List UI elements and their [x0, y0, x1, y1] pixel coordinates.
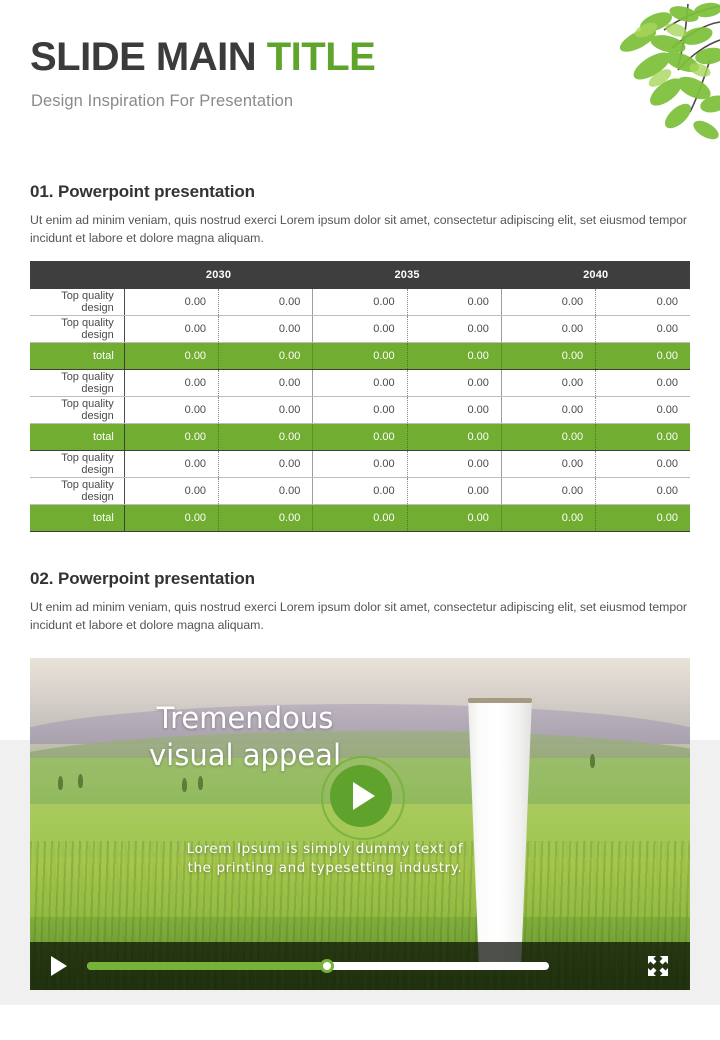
section-01-heading: 01. Powerpoint presentation	[30, 182, 690, 202]
row-label: total	[30, 424, 124, 451]
row-value: 0.00	[124, 505, 218, 532]
row-value: 0.00	[219, 451, 313, 478]
row-value: 0.00	[219, 316, 313, 343]
scene-tree	[198, 776, 203, 790]
row-value: 0.00	[219, 424, 313, 451]
row-value: 0.00	[124, 289, 218, 316]
video-headline-line1: Tremendous	[157, 701, 334, 735]
play-icon[interactable]	[51, 956, 67, 976]
row-value: 0.00	[124, 370, 218, 397]
row-value: 0.00	[124, 316, 218, 343]
video-control-bar[interactable]	[30, 942, 690, 990]
row-value: 0.00	[407, 397, 501, 424]
row-value: 0.00	[596, 343, 690, 370]
table-header-row: 2030 2035 2040	[30, 261, 690, 289]
table-row: Top quality design0.000.000.000.000.000.…	[30, 451, 690, 478]
data-table-container: 2030 2035 2040 Top quality design0.000.0…	[30, 261, 690, 532]
table-row: total0.000.000.000.000.000.00	[30, 343, 690, 370]
scene-tree	[590, 754, 595, 768]
video-caption: Lorem Ipsum is simply dummy text of the …	[180, 840, 470, 878]
row-value: 0.00	[124, 451, 218, 478]
row-value: 0.00	[313, 289, 407, 316]
row-value: 0.00	[407, 478, 501, 505]
data-table: 2030 2035 2040 Top quality design0.000.0…	[30, 261, 690, 532]
section-01: 01. Powerpoint presentation Ut enim ad m…	[30, 182, 690, 248]
row-label: total	[30, 505, 124, 532]
title-accent-part: TITLE	[267, 35, 376, 79]
row-value: 0.00	[124, 424, 218, 451]
table-row: total0.000.000.000.000.000.00	[30, 424, 690, 451]
table-corner-header	[30, 261, 124, 289]
scene-tree	[78, 774, 83, 788]
page-subtitle: Design Inspiration For Presentation	[31, 92, 375, 111]
play-button[interactable]	[330, 765, 392, 827]
table-row: Top quality design0.000.000.000.000.000.…	[30, 397, 690, 424]
scene-tree	[58, 776, 63, 790]
row-value: 0.00	[407, 316, 501, 343]
row-value: 0.00	[313, 451, 407, 478]
row-value: 0.00	[501, 505, 595, 532]
row-value: 0.00	[407, 370, 501, 397]
table-row: Top quality design0.000.000.000.000.000.…	[30, 478, 690, 505]
scene-tree	[182, 778, 187, 792]
row-value: 0.00	[407, 289, 501, 316]
title-dark-part: SLIDE MAIN	[30, 35, 267, 79]
row-value: 0.00	[596, 505, 690, 532]
row-value: 0.00	[219, 478, 313, 505]
row-value: 0.00	[596, 478, 690, 505]
row-value: 0.00	[596, 370, 690, 397]
progress-fill	[87, 962, 327, 970]
progress-handle[interactable]	[320, 959, 334, 973]
progress-bar[interactable]	[87, 962, 549, 970]
row-value: 0.00	[313, 316, 407, 343]
row-label: Top quality design	[30, 316, 124, 343]
row-value: 0.00	[501, 289, 595, 316]
table-group-header-2035: 2035	[313, 261, 502, 289]
row-value: 0.00	[501, 370, 595, 397]
table-head: 2030 2035 2040	[30, 261, 690, 289]
row-label: Top quality design	[30, 478, 124, 505]
video-player[interactable]: Tremendous visual appeal Lorem Ipsum is …	[30, 658, 690, 990]
row-value: 0.00	[124, 478, 218, 505]
row-value: 0.00	[219, 289, 313, 316]
row-label: Top quality design	[30, 397, 124, 424]
row-value: 0.00	[219, 370, 313, 397]
video-headline-line2: visual appeal	[149, 738, 341, 772]
row-value: 0.00	[124, 343, 218, 370]
fullscreen-icon[interactable]	[648, 956, 668, 976]
row-value: 0.00	[313, 505, 407, 532]
row-value: 0.00	[501, 451, 595, 478]
row-label: total	[30, 343, 124, 370]
row-label: Top quality design	[30, 289, 124, 316]
table-group-header-2040: 2040	[501, 261, 690, 289]
video-headline: Tremendous visual appeal	[30, 700, 460, 774]
section-02-heading: 02. Powerpoint presentation	[30, 569, 690, 589]
row-value: 0.00	[596, 289, 690, 316]
product-tube-cap	[468, 698, 532, 703]
row-label: Top quality design	[30, 451, 124, 478]
slide-header: SLIDE MAIN TITLE Design Inspiration For …	[30, 36, 375, 111]
row-value: 0.00	[407, 343, 501, 370]
table-group-header-2030: 2030	[124, 261, 313, 289]
row-value: 0.00	[501, 316, 595, 343]
row-value: 0.00	[407, 451, 501, 478]
row-value: 0.00	[596, 451, 690, 478]
table-row: Top quality design0.000.000.000.000.000.…	[30, 289, 690, 316]
row-value: 0.00	[313, 397, 407, 424]
row-value: 0.00	[501, 397, 595, 424]
row-value: 0.00	[219, 505, 313, 532]
section-01-body: Ut enim ad minim veniam, quis nostrud ex…	[30, 212, 690, 248]
row-value: 0.00	[313, 370, 407, 397]
row-value: 0.00	[219, 343, 313, 370]
row-value: 0.00	[313, 478, 407, 505]
row-value: 0.00	[501, 424, 595, 451]
row-value: 0.00	[407, 505, 501, 532]
page-title: SLIDE MAIN TITLE	[30, 36, 375, 78]
row-value: 0.00	[596, 316, 690, 343]
row-value: 0.00	[501, 343, 595, 370]
row-value: 0.00	[407, 424, 501, 451]
row-value: 0.00	[596, 424, 690, 451]
row-label: Top quality design	[30, 370, 124, 397]
leaves-decoration-icon	[560, 0, 720, 160]
table-row: Top quality design0.000.000.000.000.000.…	[30, 316, 690, 343]
row-value: 0.00	[313, 343, 407, 370]
row-value: 0.00	[313, 424, 407, 451]
row-value: 0.00	[219, 397, 313, 424]
table-body: Top quality design0.000.000.000.000.000.…	[30, 289, 690, 532]
section-02-body: Ut enim ad minim veniam, quis nostrud ex…	[30, 599, 690, 635]
table-row: Top quality design0.000.000.000.000.000.…	[30, 370, 690, 397]
row-value: 0.00	[596, 397, 690, 424]
row-value: 0.00	[501, 478, 595, 505]
row-value: 0.00	[124, 397, 218, 424]
section-02: 02. Powerpoint presentation Ut enim ad m…	[30, 569, 690, 635]
table-row: total0.000.000.000.000.000.00	[30, 505, 690, 532]
